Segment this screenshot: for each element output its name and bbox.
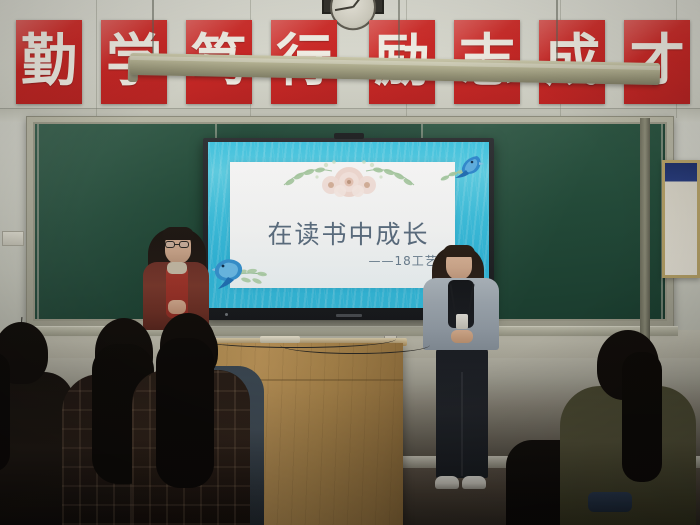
floral-garland <box>274 155 424 203</box>
hanger-wire-mid <box>398 0 400 62</box>
blue-bird-icon-bottom-left <box>212 253 270 300</box>
presenter-right-shoe-right <box>462 476 486 489</box>
framed-notice-board <box>662 160 700 278</box>
hanger-wire-right <box>556 0 558 66</box>
clock-minute-hand <box>335 6 353 11</box>
eyeglasses-icon <box>179 241 189 248</box>
presenter-left-fringe <box>162 227 194 240</box>
bird-svg <box>212 253 270 295</box>
presenter-left-hands <box>168 300 186 314</box>
presenter-left-scarf <box>167 262 187 274</box>
blue-bird-icon-top-right <box>439 150 485 195</box>
clock-hour-hand <box>352 0 362 8</box>
eyeglasses-icon <box>165 241 175 248</box>
bird-svg <box>439 150 485 190</box>
presenter-right-fringe <box>443 245 475 257</box>
classroom-photo: 勤 学 笃 行 励 志 成 才 <box>0 0 700 525</box>
audience-5-collar <box>588 492 632 512</box>
power-led-icon <box>225 313 228 316</box>
presenter-right-leg-seam <box>461 372 463 476</box>
door-jamb <box>640 118 650 358</box>
presenter-right-shoe-left <box>435 476 459 489</box>
audience-3-hair <box>156 338 214 488</box>
clock-icon <box>322 0 384 14</box>
audience-1-hair <box>0 352 10 472</box>
banner-glyph: 勤 <box>21 34 77 90</box>
audience-5-ponytail <box>622 352 662 482</box>
brand-logo <box>336 314 362 317</box>
camera-icon <box>334 133 364 139</box>
cable-2 <box>280 336 430 354</box>
presenter-right-hands <box>451 330 473 343</box>
banner-char-0: 勤 <box>16 20 82 104</box>
wall-switch-panel[interactable] <box>2 231 24 246</box>
eyeglasses-bridge <box>175 244 179 245</box>
garland-svg <box>274 155 424 203</box>
id-badge <box>456 314 468 329</box>
